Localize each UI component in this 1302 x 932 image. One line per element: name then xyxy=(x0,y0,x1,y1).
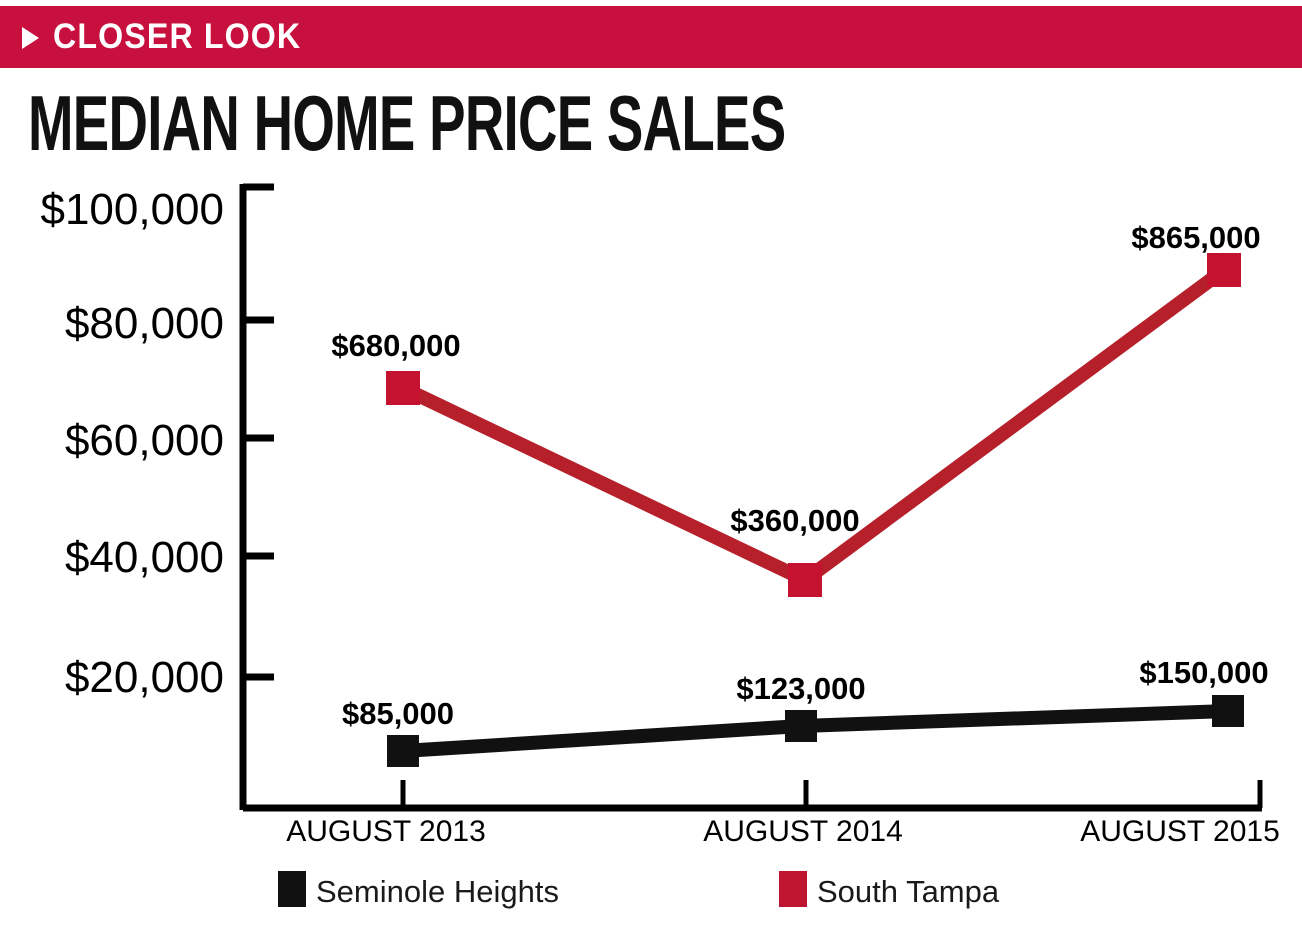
x-tick-label: AUGUST 2015 xyxy=(1080,815,1280,848)
square-swatch-icon xyxy=(779,871,807,907)
chart-container: $100,000 $80,000 $60,000 $40,000 $20,000 xyxy=(0,0,1302,932)
data-point-label: $123,000 xyxy=(736,671,865,706)
legend-item-seminole-heights[interactable]: Seminole Heights xyxy=(278,871,559,909)
infographic-page: CLOSER LOOK MEDIAN HOME PRICE SALES $100… xyxy=(0,0,1302,932)
data-point-label: $865,000 xyxy=(1131,220,1260,255)
y-axis xyxy=(243,184,274,810)
y-axis-tick-labels: $100,000 $80,000 $60,000 $40,000 $20,000 xyxy=(40,185,224,702)
data-point-marker xyxy=(386,371,420,405)
legend-label: South Tampa xyxy=(817,874,1000,909)
y-tick-label: $100,000 xyxy=(40,185,224,234)
data-point-marker xyxy=(1207,253,1241,287)
data-point-marker xyxy=(788,563,822,597)
series-south-tampa: $680,000 $360,000 $865,000 xyxy=(331,220,1260,597)
chart-legend: Seminole Heights South Tampa xyxy=(278,871,1000,909)
legend-item-south-tampa[interactable]: South Tampa xyxy=(779,871,1000,909)
data-point-label: $150,000 xyxy=(1139,655,1268,690)
data-point-label: $85,000 xyxy=(342,696,454,731)
data-point-marker xyxy=(1212,695,1244,727)
x-axis xyxy=(243,780,1262,808)
data-point-marker xyxy=(387,735,419,767)
y-tick-label: $60,000 xyxy=(65,416,224,465)
data-point-label: $680,000 xyxy=(331,328,460,363)
y-tick-label: $40,000 xyxy=(65,533,224,582)
x-tick-label: AUGUST 2013 xyxy=(286,815,486,848)
data-point-label: $360,000 xyxy=(730,503,859,538)
x-tick-label: AUGUST 2014 xyxy=(703,815,903,848)
y-tick-label: $80,000 xyxy=(65,299,224,348)
x-axis-tick-labels: AUGUST 2013 AUGUST 2014 AUGUST 2015 xyxy=(286,815,1280,848)
series-seminole-heights: $85,000 $123,000 $150,000 xyxy=(342,655,1269,767)
y-tick-label: $20,000 xyxy=(65,653,224,702)
square-swatch-icon xyxy=(278,871,306,907)
median-home-price-line-chart: $100,000 $80,000 $60,000 $40,000 $20,000 xyxy=(0,0,1302,932)
legend-label: Seminole Heights xyxy=(316,874,559,909)
data-point-marker xyxy=(785,710,817,742)
